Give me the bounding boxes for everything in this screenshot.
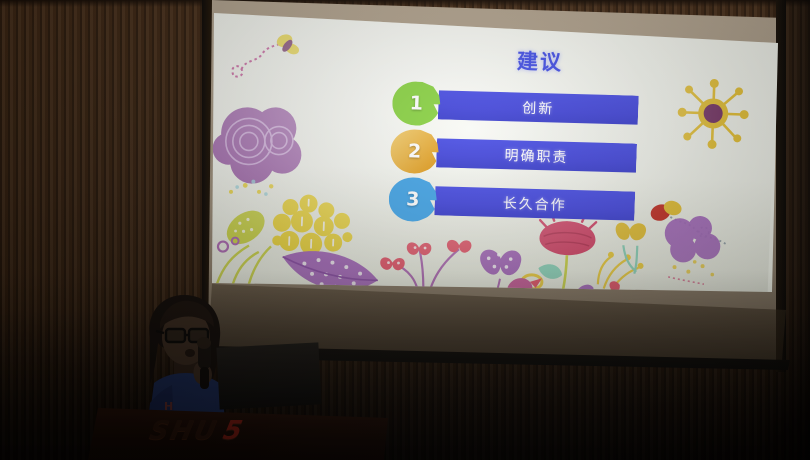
conference-room-photo: 建议 创新 1 明确职责 2 长久合作 3 bbox=[0, 0, 810, 460]
projected-slide: 建议 创新 1 明确职责 2 长久合作 3 bbox=[212, 0, 778, 292]
purple-flower-left-icon bbox=[212, 96, 324, 205]
laptop bbox=[216, 342, 321, 409]
item-badge-3: 3 bbox=[388, 177, 438, 223]
list-item: 长久合作 3 bbox=[382, 176, 654, 234]
item-label-3: 长久合作 bbox=[434, 184, 635, 222]
podium-logo-text: SHU bbox=[147, 416, 221, 446]
purple-dotted-leaf-icon bbox=[277, 241, 389, 292]
item-badge-1: 1 bbox=[392, 81, 442, 127]
podium-logo: SHU 5 bbox=[146, 412, 384, 450]
green-leaf-bottom-left-icon bbox=[212, 196, 341, 292]
sun-flower-top-right-icon bbox=[675, 75, 752, 152]
item-badge-2: 2 bbox=[390, 129, 440, 175]
item-label-2: 明确职责 bbox=[436, 136, 637, 174]
item-label-1: 创新 bbox=[438, 88, 639, 126]
yellow-berry-cluster-icon bbox=[258, 192, 365, 276]
slide-title: 建议 bbox=[459, 43, 620, 79]
podium-logo-number: 5 bbox=[220, 416, 246, 446]
recommendation-list: 创新 1 明确职责 2 长久合作 3 bbox=[382, 80, 657, 234]
purple-cloud-right-icon bbox=[654, 212, 735, 287]
butterfly-top-left-icon bbox=[227, 23, 309, 86]
purple-heart-flower-icon bbox=[469, 236, 557, 292]
ladybug-right-icon bbox=[643, 194, 735, 251]
heart-flowers-pink-icon bbox=[373, 220, 486, 292]
wall-top-trim bbox=[0, 0, 810, 7]
